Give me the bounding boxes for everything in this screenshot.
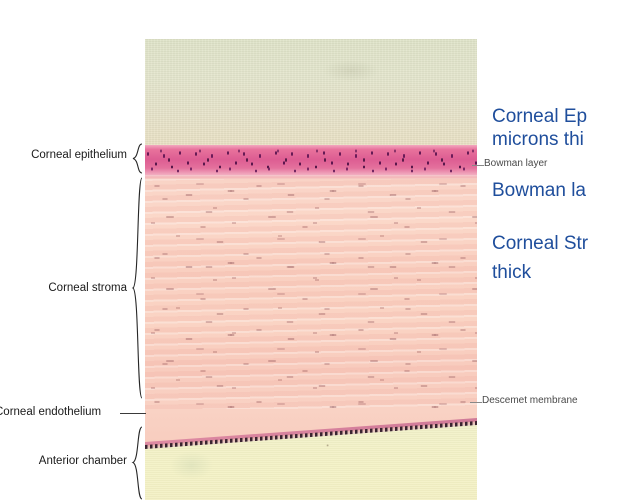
corneal-epithelium-region — [145, 145, 477, 177]
heading-corneal-stroma-line1: Corneal Str — [492, 233, 588, 255]
label-anterior-chamber: Anterior chamber — [39, 456, 127, 468]
label-corneal-epithelium: Corneal epithelium — [31, 150, 127, 162]
label-corneal-endothelium: Corneal endothelium — [0, 407, 101, 419]
label-corneal-stroma: Corneal stroma — [48, 283, 127, 295]
epithelial-nuclei-secondary — [145, 145, 477, 177]
corneal-histology-image — [145, 39, 477, 500]
heading-bowman-layer: Bowman la — [492, 180, 586, 202]
brace-anterior-chamber — [130, 426, 144, 500]
callout-descemet-membrane: Descemet membrane — [482, 396, 578, 406]
leader-dash-bowman-layer — [472, 165, 484, 166]
leader-line-corneal-endothelium — [120, 413, 146, 414]
tear-film-region — [145, 39, 477, 145]
heading-corneal-epithelium-line2: microns thi — [492, 129, 584, 151]
callout-bowman-layer: Bowman layer — [484, 159, 547, 169]
keratocyte-nuclei-secondary — [145, 179, 477, 409]
leader-dash-descemet-membrane — [470, 402, 482, 403]
brace-corneal-stroma — [130, 177, 144, 399]
brace-corneal-epithelium — [130, 143, 144, 174]
corneal-stroma-region — [145, 179, 477, 409]
heading-corneal-stroma-line2: thick — [492, 262, 531, 284]
heading-corneal-epithelium-line1: Corneal Ep — [492, 106, 587, 128]
posterior-cornea-region — [145, 409, 477, 500]
